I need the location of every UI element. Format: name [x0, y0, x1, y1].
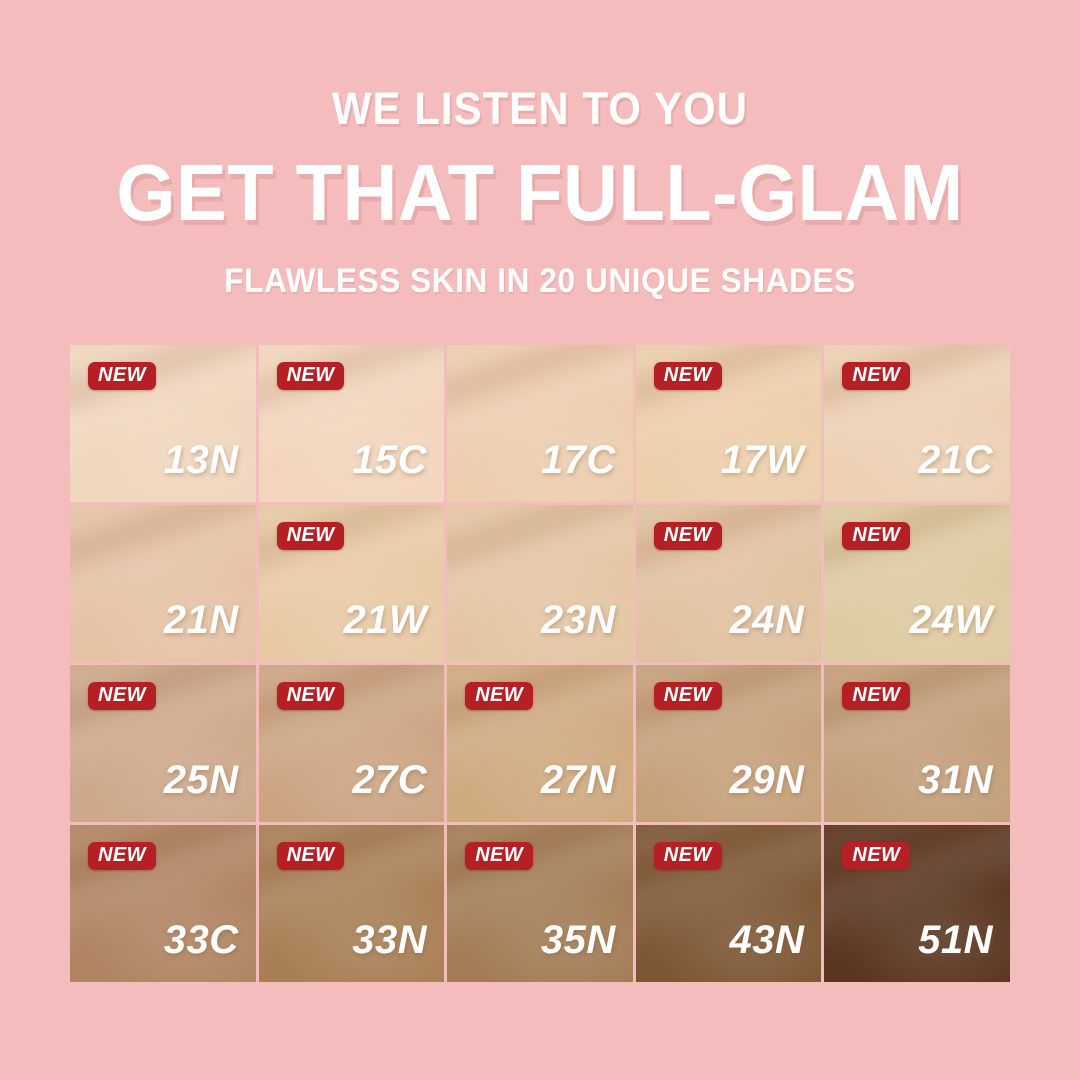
shade-swatch-grid: NEW13NNEW15C17CNEW17WNEW21C21NNEW21W23NN…	[70, 345, 1010, 982]
shade-swatch[interactable]: NEW43N	[636, 825, 822, 982]
new-badge: NEW	[88, 842, 156, 870]
shade-swatch[interactable]: NEW27N	[447, 665, 633, 822]
new-badge: NEW	[277, 522, 345, 550]
shade-code-label: 23N	[541, 600, 616, 640]
shade-swatch[interactable]: 23N	[447, 505, 633, 662]
shade-swatch[interactable]: NEW33C	[70, 825, 256, 982]
shade-swatch[interactable]: NEW31N	[824, 665, 1010, 822]
new-badge: NEW	[654, 362, 722, 390]
new-badge: NEW	[465, 682, 533, 710]
shade-code-label: 21C	[918, 440, 993, 480]
shade-swatch[interactable]: 21N	[70, 505, 256, 662]
shade-code-label: 33N	[352, 920, 427, 960]
shade-range-poster: WE LISTEN TO YOU GET THAT FULL-GLAM FLAW…	[0, 0, 1080, 1080]
shade-swatch[interactable]: NEW24W	[824, 505, 1010, 662]
new-badge: NEW	[654, 522, 722, 550]
shade-code-label: 13N	[164, 440, 239, 480]
shade-swatch[interactable]: NEW24N	[636, 505, 822, 662]
headline-eyebrow: WE LISTEN TO YOU	[38, 86, 1042, 131]
shade-code-label: 15C	[352, 440, 427, 480]
new-badge: NEW	[277, 362, 345, 390]
shade-swatch[interactable]: NEW17W	[636, 345, 822, 502]
new-badge: NEW	[842, 362, 910, 390]
shade-code-label: 43N	[730, 920, 805, 960]
shade-code-label: 21N	[164, 600, 239, 640]
shade-code-label: 27N	[541, 760, 616, 800]
new-badge: NEW	[88, 682, 156, 710]
new-badge: NEW	[842, 522, 910, 550]
shade-swatch[interactable]: NEW21W	[259, 505, 445, 662]
new-badge: NEW	[465, 842, 533, 870]
shade-code-label: 51N	[918, 920, 993, 960]
shade-swatch[interactable]: NEW35N	[447, 825, 633, 982]
shade-swatch[interactable]: NEW27C	[259, 665, 445, 822]
shade-swatch[interactable]: NEW15C	[259, 345, 445, 502]
new-badge: NEW	[654, 682, 722, 710]
new-badge: NEW	[277, 842, 345, 870]
shade-code-label: 24N	[730, 600, 805, 640]
shade-swatch[interactable]: 17C	[447, 345, 633, 502]
new-badge: NEW	[277, 682, 345, 710]
shade-code-label: 25N	[164, 760, 239, 800]
shade-code-label: 24W	[909, 600, 993, 640]
shade-swatch[interactable]: NEW25N	[70, 665, 256, 822]
new-badge: NEW	[842, 682, 910, 710]
shade-code-label: 27C	[352, 760, 427, 800]
new-badge: NEW	[654, 842, 722, 870]
shade-code-label: 31N	[918, 760, 993, 800]
shade-swatch[interactable]: NEW13N	[70, 345, 256, 502]
shade-swatch[interactable]: NEW51N	[824, 825, 1010, 982]
shade-code-label: 35N	[541, 920, 616, 960]
shade-swatch[interactable]: NEW21C	[824, 345, 1010, 502]
headline-subheadline: FLAWLESS SKIN IN 20 UNIQUE SHADES	[38, 264, 1042, 298]
shade-swatch[interactable]: NEW33N	[259, 825, 445, 982]
shade-swatch[interactable]: NEW29N	[636, 665, 822, 822]
poster-header: WE LISTEN TO YOU GET THAT FULL-GLAM FLAW…	[0, 86, 1080, 298]
headline-main: GET THAT FULL-GLAM	[27, 153, 1053, 233]
new-badge: NEW	[842, 842, 910, 870]
shade-code-label: 17C	[541, 440, 616, 480]
shade-code-label: 21W	[343, 600, 427, 640]
new-badge: NEW	[88, 362, 156, 390]
shade-code-label: 29N	[730, 760, 805, 800]
shade-code-label: 33C	[164, 920, 239, 960]
shade-code-label: 17W	[721, 440, 805, 480]
